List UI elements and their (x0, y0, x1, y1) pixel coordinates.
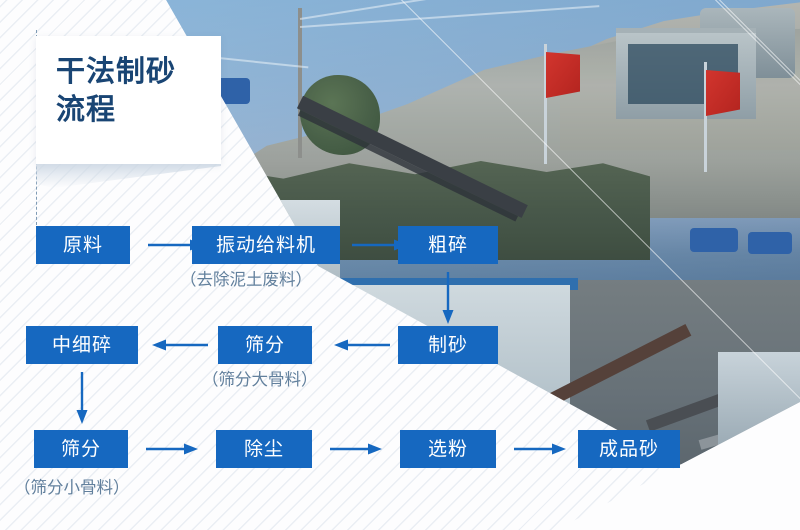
page-title: 干法制砂 流程 (56, 52, 216, 128)
flow-node-coarse-crushing[interactable]: 粗碎 (398, 226, 498, 264)
arrow-down-icon (74, 372, 90, 424)
flow-caption-remove-soil-waste: （去除泥土废料） (180, 272, 312, 289)
flow-caption-screen-small-aggregate: （筛分小骨料） (14, 480, 130, 497)
flow-caption-screen-large-aggregate: （筛分大骨料） (202, 372, 318, 389)
arrow-right-icon (514, 441, 566, 457)
arrow-left-icon (152, 337, 208, 353)
flow-node-screening-small[interactable]: 筛分 (34, 430, 128, 468)
flow-node-powder-selecting[interactable]: 选粉 (400, 430, 496, 468)
infographic-root: 干法制砂 流程 原料 振动给料机 粗碎 （去除泥土废料） 中细碎 筛分 (0, 0, 800, 530)
flow-node-vibrating-feeder[interactable]: 振动给料机 (192, 226, 340, 264)
flow-node-screening-large[interactable]: 筛分 (218, 326, 312, 364)
flow-node-medium-fine-crushing[interactable]: 中细碎 (26, 326, 138, 364)
flow-node-sand-making[interactable]: 制砂 (398, 326, 498, 364)
flow-node-finished-sand[interactable]: 成品砂 (578, 430, 680, 468)
flow-node-raw-material[interactable]: 原料 (36, 226, 130, 264)
arrow-left-icon (334, 337, 390, 353)
arrow-down-icon (440, 272, 456, 324)
flow-node-dust-removal[interactable]: 除尘 (216, 430, 312, 468)
arrow-right-icon (330, 441, 382, 457)
arrow-right-icon (146, 441, 198, 457)
